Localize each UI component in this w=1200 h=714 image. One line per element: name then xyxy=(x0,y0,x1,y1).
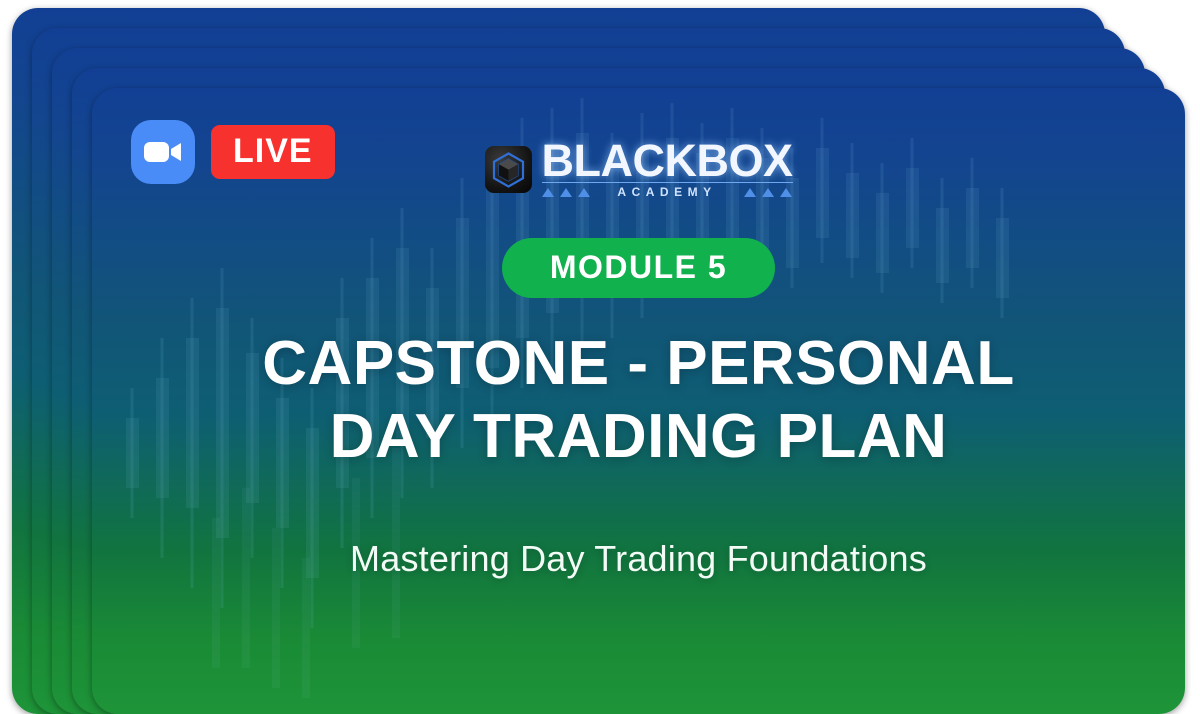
slide-content: LIVE BLACKBOX xyxy=(92,88,1185,714)
slide-stage: LIVE BLACKBOX xyxy=(0,0,1200,714)
page-title-line-1: CAPSTONE - PERSONAL xyxy=(132,328,1145,401)
triangle-group-left xyxy=(542,188,590,197)
brand-name: BLACKBOX xyxy=(542,140,793,181)
slide-card-front: LIVE BLACKBOX xyxy=(92,88,1185,714)
brand-logo: BLACKBOX ACADEMY xyxy=(92,140,1185,199)
module-badge-wrap: MODULE 5 xyxy=(92,238,1185,298)
brand-subtitle: ACADEMY xyxy=(611,185,722,199)
triangle-icon xyxy=(762,188,774,197)
page-title-line-2: DAY TRADING PLAN xyxy=(132,401,1145,474)
triangle-icon xyxy=(578,188,590,197)
page-title: CAPSTONE - PERSONAL DAY TRADING PLAN xyxy=(132,328,1145,473)
triangle-icon xyxy=(744,188,756,197)
brand-subtitle-row: ACADEMY xyxy=(542,182,793,199)
triangle-group-right xyxy=(744,188,792,197)
triangle-icon xyxy=(560,188,572,197)
triangle-icon xyxy=(542,188,554,197)
blackbox-cube-logo-icon xyxy=(485,146,532,193)
page-subtitle: Mastering Day Trading Foundations xyxy=(132,538,1145,580)
triangle-icon xyxy=(780,188,792,197)
module-badge: MODULE 5 xyxy=(502,238,775,298)
